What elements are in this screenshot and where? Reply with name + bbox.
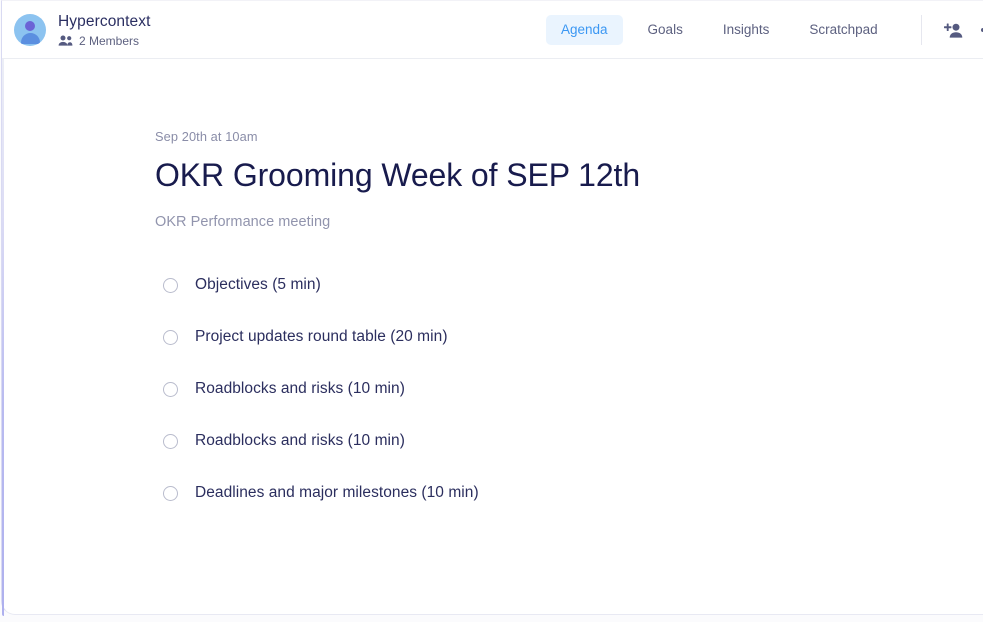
page-title[interactable]: OKR Grooming Week of SEP 12th: [155, 156, 983, 194]
agenda-item-label[interactable]: Objectives (5 min): [195, 276, 321, 294]
avatar-body: [21, 33, 40, 44]
nav-divider: [921, 15, 922, 45]
agenda-item-label[interactable]: Project updates round table (20 min): [195, 328, 448, 346]
agenda-item-label[interactable]: Roadblocks and risks (10 min): [195, 380, 405, 398]
workspace-text: Hypercontext 2 Members: [58, 12, 151, 48]
more-options-button[interactable]: [976, 16, 983, 44]
meeting-card: Hypercontext 2 Members Agenda Goals Insi…: [1, 0, 983, 615]
members-count-label: 2 Members: [79, 34, 139, 48]
meeting-body: Sep 20th at 10am OKR Grooming Week of SE…: [2, 59, 983, 508]
app-header: Hypercontext 2 Members Agenda Goals Insi…: [2, 1, 983, 59]
agenda-checkbox-icon[interactable]: [163, 434, 178, 449]
tab-goals[interactable]: Goals: [633, 15, 698, 45]
tab-insights[interactable]: Insights: [708, 15, 785, 45]
tab-agenda[interactable]: Agenda: [546, 15, 623, 45]
agenda-item-label[interactable]: Deadlines and major milestones (10 min): [195, 484, 479, 502]
agenda-checkbox-icon[interactable]: [163, 330, 178, 345]
workspace-brand[interactable]: Hypercontext 2 Members: [14, 12, 151, 48]
agenda-item-label[interactable]: Roadblocks and risks (10 min): [195, 432, 405, 450]
workspace-name: Hypercontext: [58, 12, 151, 31]
agenda-checkbox-icon[interactable]: [163, 382, 178, 397]
agenda-checkbox-icon[interactable]: [163, 278, 178, 293]
header-nav: Agenda Goals Insights Scratchpad: [546, 1, 983, 59]
list-item[interactable]: Roadblocks and risks (10 min): [155, 374, 983, 404]
list-item[interactable]: Project updates round table (20 min): [155, 322, 983, 352]
list-item[interactable]: Objectives (5 min): [155, 270, 983, 300]
tab-scratchpad[interactable]: Scratchpad: [794, 15, 892, 45]
members-row[interactable]: 2 Members: [58, 34, 151, 48]
list-item[interactable]: Deadlines and major milestones (10 min): [155, 478, 983, 508]
add-person-button[interactable]: [940, 16, 968, 44]
list-item[interactable]: Roadblocks and risks (10 min): [155, 426, 983, 456]
meeting-subtitle[interactable]: OKR Performance meeting: [155, 214, 983, 230]
user-avatar-icon[interactable]: [14, 14, 46, 46]
avatar-head: [25, 21, 35, 31]
agenda-checkbox-icon[interactable]: [163, 486, 178, 501]
meeting-date: Sep 20th at 10am: [155, 129, 983, 144]
add-person-icon: [944, 23, 963, 38]
agenda-list: Objectives (5 min) Project updates round…: [155, 270, 983, 508]
group-icon: [58, 35, 73, 46]
